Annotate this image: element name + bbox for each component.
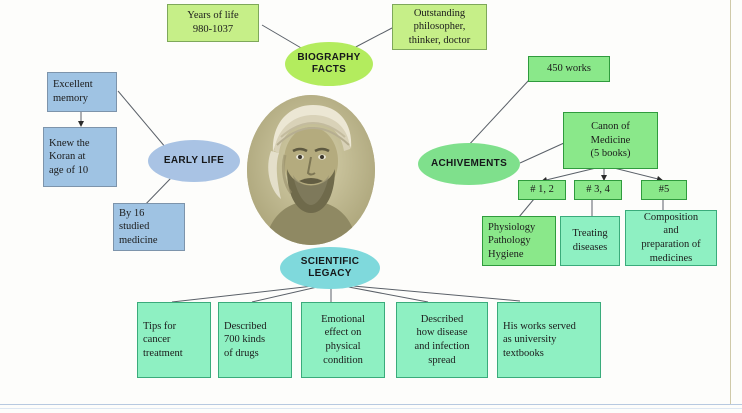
node-outstanding-philosopher[interactable]: Outstanding philosopher, thinker, doctor — [392, 4, 487, 50]
node-disease-spread[interactable]: Described how disease and infection spre… — [396, 302, 488, 378]
node-canon-of-medicine[interactable]: Canon of Medicine (5 books) — [563, 112, 658, 169]
node-book-5[interactable]: #5 — [641, 180, 687, 200]
node-450-works[interactable]: 450 works — [528, 56, 610, 82]
line-canon-book5 — [614, 168, 662, 180]
node-700-drugs[interactable]: Described 700 kinds of drugs — [218, 302, 292, 378]
frame-bottom-border-2 — [0, 408, 742, 409]
node-books-3-4-detail[interactable]: Treating diseases — [560, 216, 620, 266]
node-books-1-2[interactable]: # 1, 2 — [518, 180, 566, 200]
node-excellent-memory[interactable]: Excellent memory — [47, 72, 117, 112]
line-legacy-spread — [338, 285, 428, 302]
node-studied-medicine[interactable]: By 16 studied medicine — [113, 203, 185, 251]
hub-biography-facts[interactable]: BIOGRAPHY FACTS — [285, 42, 373, 86]
mindmap-canvas: BIOGRAPHY FACTS EARLY LIFE ACHIVEMENTS S… — [0, 0, 742, 413]
hub-early-life[interactable]: EARLY LIFE — [148, 140, 240, 182]
line-legacy-cancer — [172, 285, 322, 302]
frame-bottom-border — [0, 404, 742, 405]
hub-scientific-legacy[interactable]: SCIENTIFIC LEGACY — [280, 247, 380, 289]
node-book-5-detail[interactable]: Composition and preparation of medicines — [625, 210, 717, 266]
line-achv-canon — [520, 143, 564, 163]
node-emotional-effect[interactable]: Emotional effect on physical condition — [301, 302, 385, 378]
line-achv-450works — [466, 80, 529, 148]
node-books-3-4[interactable]: # 3, 4 — [574, 180, 622, 200]
node-university-textbooks[interactable]: His works served as university textbooks — [497, 302, 601, 378]
frame-right-border — [730, 0, 731, 404]
avicenna-portrait — [247, 95, 375, 245]
node-cancer-tips[interactable]: Tips for cancer treatment — [137, 302, 211, 378]
node-years-of-life[interactable]: Years of life 980-1037 — [167, 4, 259, 42]
node-knew-koran[interactable]: Knew the Koran at age of 10 — [43, 127, 117, 187]
hub-achievements[interactable]: ACHIVEMENTS — [418, 143, 520, 185]
line-legacy-textbooks — [342, 285, 520, 301]
line-books12-detail — [519, 199, 534, 217]
node-books-1-2-detail[interactable]: Physiology Pathology Hygiene — [482, 216, 556, 266]
line-early-memory — [118, 91, 166, 148]
